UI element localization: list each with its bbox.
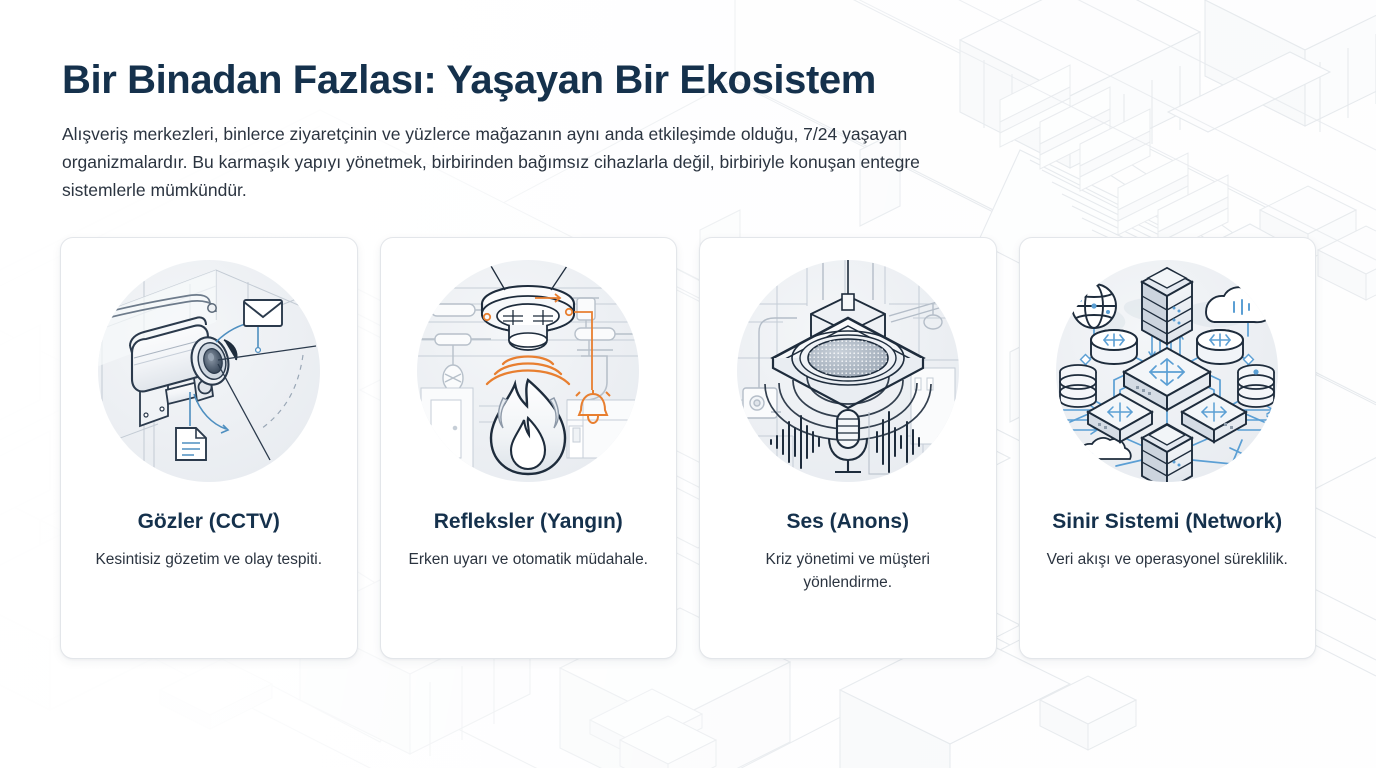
feature-card-speaker[interactable]: Ses (Anons) Kriz yönetimi ve müşteri yön… <box>699 237 997 659</box>
card-title: Refleksler (Yangın) <box>434 510 623 534</box>
feature-card-network[interactable]: Sinir Sistemi (Network) Veri akışı ve op… <box>1019 237 1317 659</box>
card-description: Erken uyarı ve otomatik müdahale. <box>408 548 648 571</box>
card-description: Kriz yönetimi ve müşteri yönlendirme. <box>723 548 973 595</box>
cctv-camera-illustration <box>98 260 320 482</box>
header: Bir Binadan Fazlası: Yaşayan Bir Ekosist… <box>62 58 992 205</box>
page-subtitle: Alışveriş merkezleri, binlerce ziyaretçi… <box>62 120 967 205</box>
smoke-detector-fire-illustration <box>417 260 639 482</box>
card-description: Kesintisiz gözetim ve olay tespiti. <box>95 548 322 571</box>
network-topology-illustration <box>1056 260 1278 482</box>
ceiling-speaker-microphone-illustration <box>737 260 959 482</box>
feature-card-row: Gözler (CCTV) Kesintisiz gözetim ve olay… <box>60 237 1316 659</box>
card-description: Veri akışı ve operasyonel süreklilik. <box>1047 548 1288 571</box>
feature-card-cctv[interactable]: Gözler (CCTV) Kesintisiz gözetim ve olay… <box>60 237 358 659</box>
feature-card-fire[interactable]: Refleksler (Yangın) Erken uyarı ve otoma… <box>380 237 678 659</box>
card-title: Ses (Anons) <box>786 510 909 534</box>
page-title: Bir Binadan Fazlası: Yaşayan Bir Ekosist… <box>62 58 992 103</box>
card-title: Sinir Sistemi (Network) <box>1052 510 1282 534</box>
card-title: Gözler (CCTV) <box>138 510 280 534</box>
infographic-page: Bir Binadan Fazlası: Yaşayan Bir Ekosist… <box>0 0 1376 768</box>
